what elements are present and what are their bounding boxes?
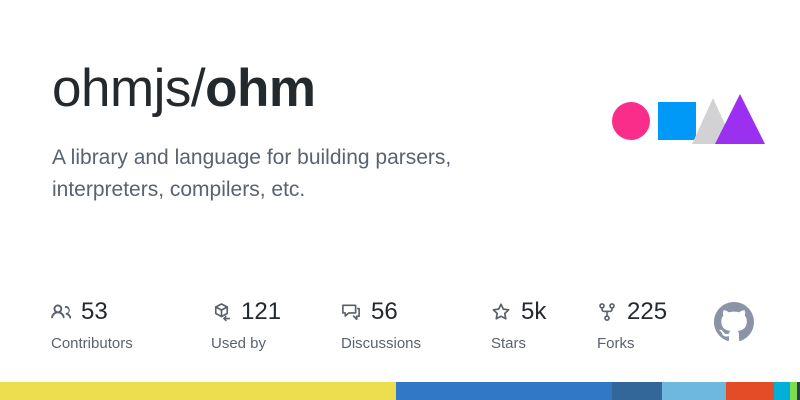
- stat-stars-label: Stars: [491, 335, 546, 353]
- stat-used-by-label: Used by: [211, 335, 281, 353]
- repo-separator: /: [191, 59, 205, 118]
- stat-discussions-value: 56: [371, 300, 398, 324]
- stat-stars-value: 5k: [521, 300, 546, 324]
- repo-owner: ohmjs: [52, 59, 191, 118]
- stat-used-by: 121 Used by: [210, 298, 281, 358]
- repo-description: A library and language for building pars…: [52, 142, 522, 206]
- language-segment-5: [774, 382, 790, 400]
- github-repo-social-card: ohmjs/ohm A library and language for bui…: [0, 0, 800, 400]
- language-color-bar: [0, 382, 800, 400]
- people-icon: [50, 301, 72, 323]
- stat-contributors: 53 Contributors: [50, 298, 133, 358]
- language-segment-0: [0, 382, 396, 400]
- language-segment-1: [396, 382, 612, 400]
- stat-used-by-value: 121: [241, 300, 281, 324]
- stat-forks-head: 225: [596, 298, 667, 326]
- logo-circle-icon: [612, 102, 650, 140]
- stat-contributors-value: 53: [81, 300, 108, 324]
- stat-stars: 5k Stars: [490, 298, 546, 358]
- stat-contributors-head: 53: [50, 298, 133, 326]
- repo-name: ohm: [205, 59, 315, 118]
- stat-forks: 225 Forks: [596, 298, 667, 358]
- stat-stars-head: 5k: [490, 298, 546, 326]
- logo-triangle-purple-icon: [715, 94, 765, 144]
- page-title: ohmjs/ohm: [52, 58, 316, 120]
- stat-discussions-head: 56: [340, 298, 421, 326]
- repo-description-line-1: A library and language for building pars…: [52, 142, 522, 174]
- comment-icon: [340, 301, 362, 323]
- language-segment-2: [612, 382, 662, 400]
- fork-icon: [596, 301, 618, 323]
- project-logo: [612, 98, 752, 144]
- language-segment-6: [790, 382, 797, 400]
- stat-forks-label: Forks: [597, 335, 667, 353]
- language-segment-3: [662, 382, 726, 400]
- logo-square-icon: [658, 102, 696, 140]
- stat-discussions-label: Discussions: [341, 335, 421, 353]
- language-segment-4: [726, 382, 774, 400]
- stat-forks-value: 225: [627, 300, 667, 324]
- github-logo-icon: [714, 302, 754, 342]
- stat-contributors-label: Contributors: [51, 335, 133, 353]
- package-used-icon: [210, 301, 232, 323]
- star-icon: [490, 301, 512, 323]
- stat-used-by-head: 121: [210, 298, 281, 326]
- stat-discussions: 56 Discussions: [340, 298, 421, 358]
- repo-description-line-2: interpreters, compilers, etc.: [52, 174, 522, 206]
